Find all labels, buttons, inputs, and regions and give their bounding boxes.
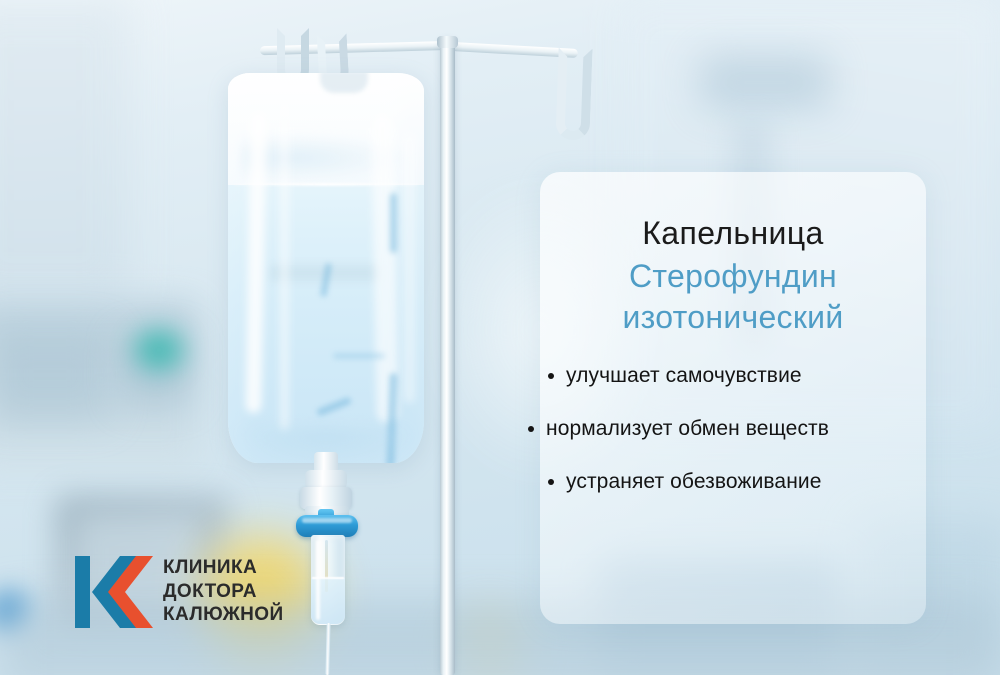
- background-cabinet-shadow: [0, 330, 110, 420]
- iv-bag-highlight: [280, 101, 289, 431]
- list-item: нормализует обмен веществ: [520, 415, 926, 442]
- heading-line-2: Стерофундин: [540, 258, 926, 295]
- iv-stand-right-hook: [555, 47, 592, 140]
- list-item: устраняет обезвоживание: [540, 468, 926, 495]
- iv-bag-highlight: [404, 133, 415, 403]
- list-item: улучшает самочувствие: [540, 362, 926, 389]
- iv-bag: [228, 73, 424, 463]
- heading-line-3: изотонический: [540, 299, 926, 336]
- iv-stand-pole-cap: [437, 36, 458, 48]
- logo-wordmark: КЛИНИКА ДОКТОРА КАЛЮЖНОЙ: [163, 556, 323, 627]
- banner-stage: Капельница Стерофундин изотонический улу…: [0, 0, 1000, 675]
- drip-collar-highlight: [302, 518, 352, 523]
- text-panel-content: Капельница Стерофундин изотонический улу…: [540, 172, 926, 624]
- benefits-list: улучшает самочувствие нормализует обмен …: [540, 362, 926, 521]
- background-left-wall: [0, 0, 130, 300]
- clinic-logo[interactable]: КЛИНИКА ДОКТОРА КАЛЮЖНОЙ: [75, 552, 315, 642]
- logo-line-3: КАЛЮЖНОЙ: [163, 603, 323, 627]
- background-teal-accent: [135, 330, 183, 370]
- background-right-shelf: [700, 55, 830, 110]
- logo-line-2: ДОКТОРА: [163, 580, 323, 604]
- iv-bag-blue-tint: [333, 353, 385, 359]
- iv-bag-top-notch: [320, 73, 368, 93]
- iv-bag-blue-tint: [390, 193, 397, 253]
- iv-stand-pole: [440, 40, 455, 675]
- logo-mark-icon: [75, 556, 153, 628]
- logo-line-1: КЛИНИКА: [163, 556, 323, 580]
- heading-line-1: Капельница: [540, 215, 926, 252]
